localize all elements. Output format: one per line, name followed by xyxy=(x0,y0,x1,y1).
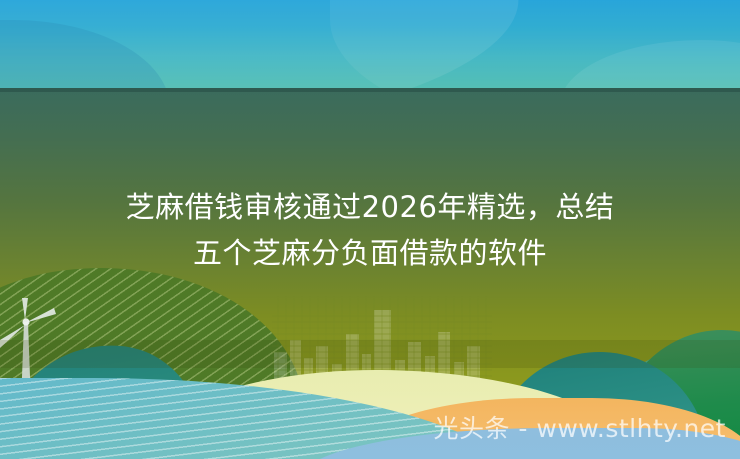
banner-title-line-1: 芝麻借钱审核通过2026年精选，总结 xyxy=(0,184,740,230)
site-watermark: 光头条 - www.stlhty.net xyxy=(433,409,726,445)
article-cover-banner: 芝麻借钱审核通过2026年精选，总结 五个芝麻分负面借款的软件 光头条 - ww… xyxy=(0,0,740,459)
banner-title: 芝麻借钱审核通过2026年精选，总结 五个芝麻分负面借款的软件 xyxy=(0,184,740,276)
overlay-band-mid xyxy=(0,340,740,368)
banner-title-line-2: 五个芝麻分负面借款的软件 xyxy=(0,230,740,276)
overlay-band-top xyxy=(0,88,740,92)
sky-background xyxy=(0,0,740,92)
